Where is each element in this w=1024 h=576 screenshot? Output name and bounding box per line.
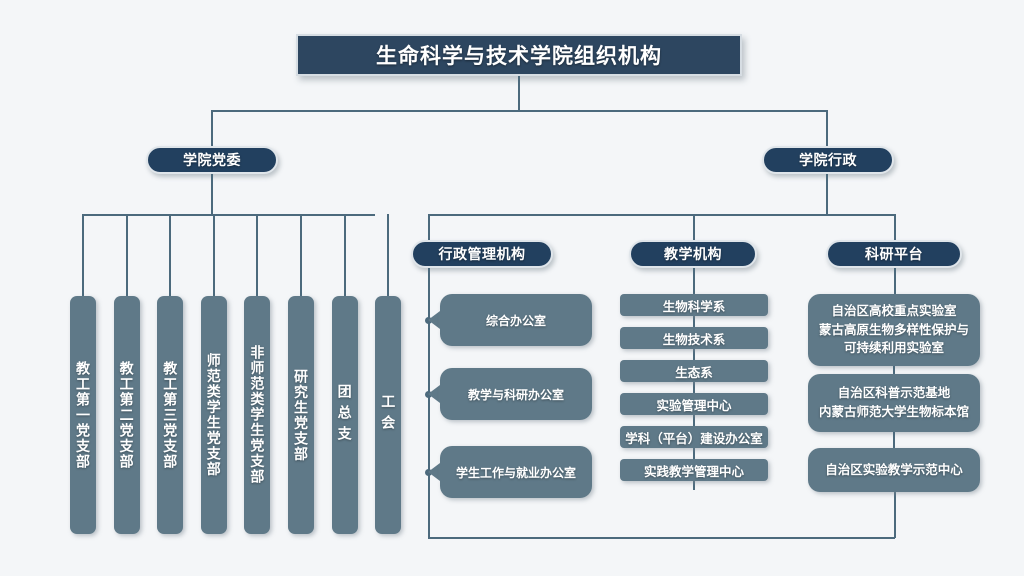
connector-party-leg [300,214,302,296]
node-teaching-unit[interactable]: 实践教学管理中心 [620,459,768,481]
connector-adminroot-stem [826,174,828,215]
connector-admin-drop [826,110,828,146]
party-branch-label: 团总支 [338,384,352,447]
party-branch-label: 教工第一党支部 [76,361,90,470]
party-branch-label: 研究生党支部 [294,369,308,462]
node-teaching-unit[interactable]: 生物技术系 [620,327,768,349]
research-platform-line: 蒙古高原生物多样性保护与 [819,321,969,340]
node-research-platform[interactable]: 科研平台 [826,240,962,268]
node-admin-office[interactable]: 综合办公室 [440,294,592,346]
connector-party-leg [387,214,389,296]
node-party-branch[interactable]: 教工第二党支部 [114,296,140,534]
research-platform-line: 可持续利用实验室 [844,339,944,358]
connector-bottom-return [428,537,895,539]
party-branch-label: 工会 [381,394,395,436]
research-platform-line: 自治区实验教学示范中心 [825,461,963,480]
connector-admin-bus [428,214,895,216]
connector-adminorg-drop [428,214,430,241]
connector-research-spine [894,268,896,294]
party-branch-label: 非师范类学生党支部 [250,345,264,485]
research-platform-line: 自治区科普示范基地 [838,384,951,403]
party-branch-label: 教工第三党支部 [163,361,177,470]
party-branch-label: 教工第二党支部 [120,361,134,470]
node-research-platform[interactable]: 自治区高校重点实验室蒙古高原生物多样性保护与可持续利用实验室 [808,294,980,366]
research-platform-line: 内蒙古师范大学生物标本馆 [819,403,969,422]
connector-research-drop [894,214,896,241]
connector-party-leg [169,214,171,296]
connector-main-bus [211,110,828,112]
node-party-branch[interactable]: 团总支 [332,296,358,534]
connector-research-link [893,432,895,448]
connector-party-leg [213,214,215,296]
connector-research-link [893,366,895,374]
node-party-branch[interactable]: 非师范类学生党支部 [244,296,270,534]
research-platform-line: 自治区高校重点实验室 [831,302,956,321]
admin-office-arrow-notch [428,463,440,481]
connector-research-return [894,492,896,538]
node-party-branch[interactable]: 师范类学生党支部 [201,296,227,534]
connector-teaching-drop [693,214,695,241]
page-title: 生命科学与技术学院组织机构 [296,34,742,76]
org-chart-canvas: 生命科学与技术学院组织机构 学院党委 学院行政 教工第一党支部教工第二党支部教工… [0,0,1024,576]
node-party-committee[interactable]: 学院党委 [146,146,278,174]
party-branch-label: 师范类学生党支部 [207,353,221,477]
page-title-text: 生命科学与技术学院组织机构 [376,40,662,70]
node-teaching-organization[interactable]: 教学机构 [629,240,757,268]
connector-adminorg-spine [428,268,430,539]
admin-office-arrow-notch [428,385,440,403]
node-party-branch[interactable]: 工会 [375,296,401,534]
node-teaching-unit[interactable]: 实验管理中心 [620,393,768,415]
connector-party-leg [256,214,258,296]
node-college-administration[interactable]: 学院行政 [762,146,894,174]
node-teaching-unit[interactable]: 生态系 [620,360,768,382]
node-research-platform[interactable]: 自治区科普示范基地内蒙古师范大学生物标本馆 [808,374,980,432]
node-admin-organization[interactable]: 行政管理机构 [411,240,553,268]
connector-party-drop [211,110,213,146]
connector-party-leg [82,214,84,296]
connector-title-stem [518,76,520,112]
connector-party-leg [126,214,128,296]
connector-party-stem [211,174,213,215]
node-party-branch[interactable]: 教工第三党支部 [157,296,183,534]
admin-office-arrow-notch [428,311,440,329]
node-party-branch[interactable]: 研究生党支部 [288,296,314,534]
node-party-branch[interactable]: 教工第一党支部 [70,296,96,534]
node-admin-office[interactable]: 教学与科研办公室 [440,368,592,420]
node-teaching-unit[interactable]: 生物科学系 [620,294,768,316]
connector-party-leg [344,214,346,296]
node-teaching-unit[interactable]: 学科（平台）建设办公室 [620,426,768,448]
node-research-platform[interactable]: 自治区实验教学示范中心 [808,448,980,492]
node-admin-office[interactable]: 学生工作与就业办公室 [440,446,592,498]
